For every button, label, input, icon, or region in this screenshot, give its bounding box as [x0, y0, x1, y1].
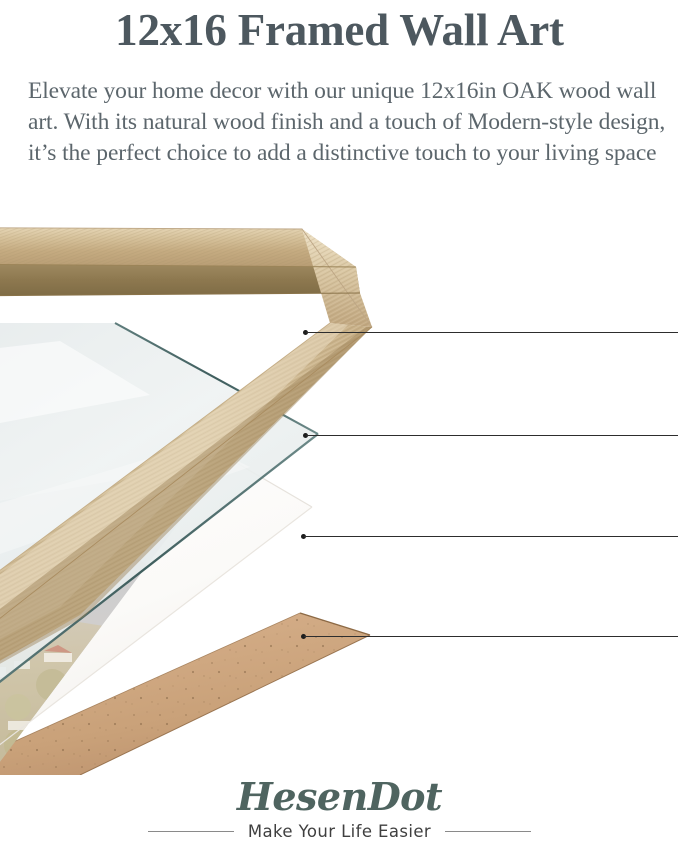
brand-tagline: Make Your Life Easier: [248, 822, 431, 841]
product-illustration: [0, 215, 679, 775]
brand-footer: HesenDot Make Your Life Easier: [0, 775, 679, 841]
product-description: Elevate your home decor with our unique …: [28, 76, 678, 169]
tagline-rule-right: [445, 831, 531, 832]
callout-rule-1: [306, 332, 678, 333]
brand-tagline-row: Make Your Life Easier: [0, 822, 679, 841]
callout-rule-2: [306, 435, 678, 436]
tagline-rule-left: [148, 831, 234, 832]
product-infographic-page: 12x16 Framed Wall Art Elevate your home …: [0, 0, 679, 841]
brand-logo: HesenDot: [0, 773, 679, 821]
header-block: 12x16 Framed Wall Art Elevate your home …: [0, 0, 679, 215]
callout-rule-3: [304, 536, 678, 537]
exploded-frame-graphic: [0, 215, 679, 775]
callout-rule-4: [304, 636, 678, 637]
page-title: 12x16 Framed Wall Art: [0, 2, 679, 58]
